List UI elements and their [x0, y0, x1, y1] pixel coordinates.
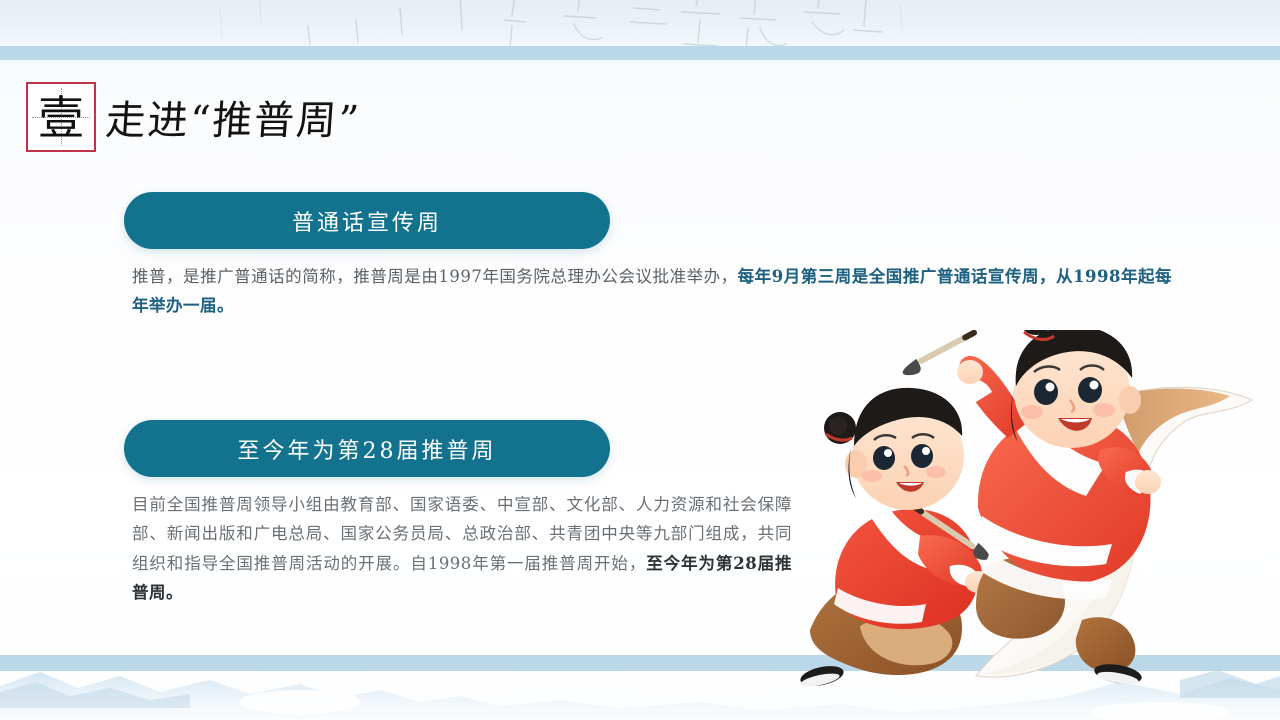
pill-heading-2[interactable]: 至今年为第28届推普周: [124, 420, 610, 477]
paragraph-2: 目前全国推普周领导小组由教育部、国家语委、中宣部、文化部、人力资源和社会保障部、…: [132, 490, 792, 607]
paragraph-1-lead: 推普，是推广普通话的简称，推普周是由1997年国务院总理办公会议批准举办，: [132, 267, 738, 286]
children-calligraphy-illustration: [800, 330, 1270, 708]
paragraph-1: 推普，是推广普通话的简称，推普周是由1997年国务院总理办公会议批准举办，每年9…: [132, 262, 1172, 321]
pill-heading-1[interactable]: 普通话宣传周: [124, 192, 610, 249]
top-blue-band: [0, 46, 1280, 60]
slide-canvas: 壹 走进“推普周” 普通话宣传周 推普，是推广普通话的简称，推普周是由1997年…: [0, 0, 1280, 720]
child-left: [800, 388, 993, 690]
section-number-box: 壹: [26, 82, 96, 152]
section-heading: 壹 走进“推普周”: [26, 82, 361, 152]
section-number-glyph: 壹: [38, 95, 84, 141]
page-title: 走进“推普周”: [104, 88, 363, 146]
